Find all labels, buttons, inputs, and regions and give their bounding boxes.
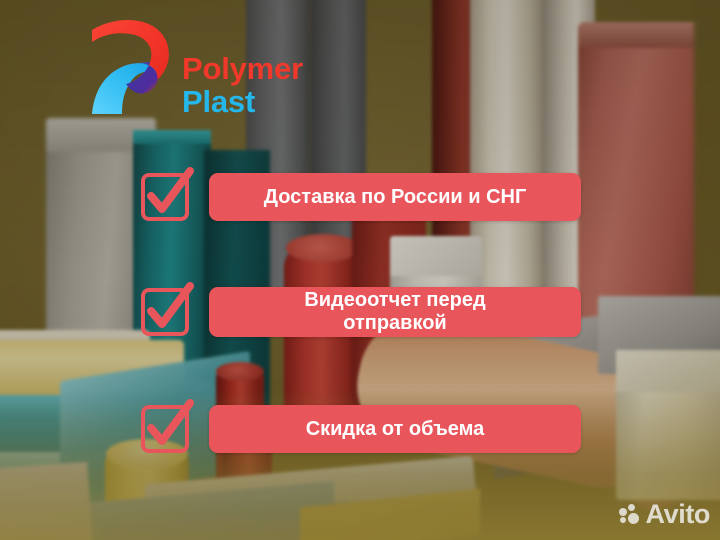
avito-dots-logo-icon <box>619 504 641 526</box>
checkbox-checked-icon <box>140 404 188 454</box>
avito-wordmark: Avito <box>646 499 711 530</box>
feature-pill-delivery[interactable]: Доставка по России и СНГ <box>209 173 581 221</box>
checkbox-checked-icon <box>140 287 188 337</box>
brand-logo: Polymer Plast <box>90 14 340 119</box>
feature-row-volume-discount: Скидка от объема <box>140 404 581 454</box>
feature-label-video-report-line-1: Видеоотчет перед <box>304 289 485 311</box>
feature-pill-volume-discount[interactable]: Скидка от объема <box>209 405 581 453</box>
feature-label-volume-discount: Скидка от объема <box>306 418 485 441</box>
feature-label-video-report-line-2: отправкой <box>343 312 447 334</box>
avito-watermark: Avito <box>619 499 711 530</box>
swoosh-ribbon-logo-icon <box>90 14 178 118</box>
brand-name-line-2: Plast <box>182 87 303 117</box>
feature-row-video-report: Видеоотчет перед отправкой <box>140 287 581 337</box>
feature-row-delivery: Доставка по России и СНГ <box>140 172 581 222</box>
feature-label-delivery: Доставка по России и СНГ <box>264 186 527 209</box>
feature-pill-video-report[interactable]: Видеоотчет перед отправкой <box>209 287 581 337</box>
checkbox-checked-icon <box>140 172 188 222</box>
brand-name-line-1: Polymer <box>182 54 303 84</box>
promo-banner: Polymer Plast Доставка по России и СНГ <box>0 0 720 540</box>
